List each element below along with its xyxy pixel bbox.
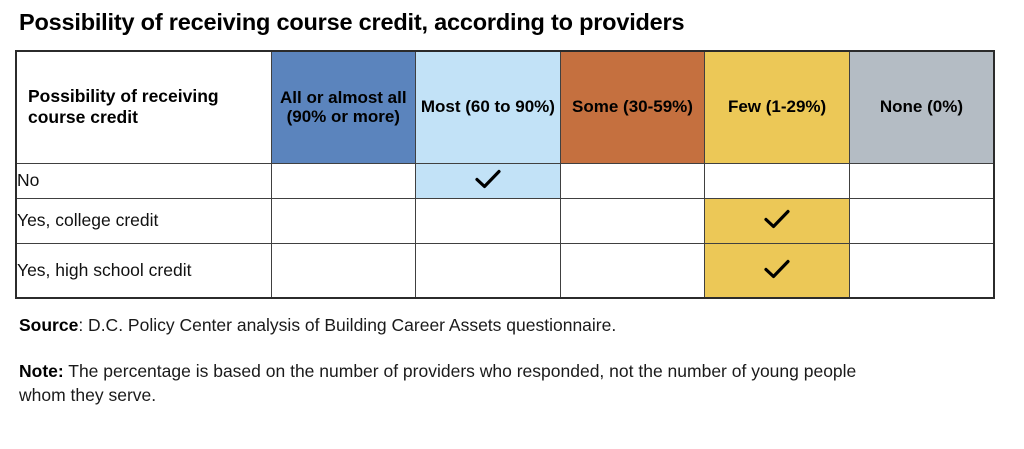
row-label-yes-high-school-credit: Yes, high school credit (16, 243, 271, 298)
cell-highschool-some (560, 243, 705, 298)
cell-college-some (560, 198, 705, 243)
column-header-none: None (0%) (849, 51, 994, 163)
checkmark-icon (764, 259, 790, 279)
header-row: Possibility of receiving course credit A… (16, 51, 994, 163)
checkmark-icon (475, 169, 501, 189)
cell-college-most (416, 198, 561, 243)
cell-college-all-or-almost-all (271, 198, 416, 243)
cell-highschool-most (416, 243, 561, 298)
cell-college-none (849, 198, 994, 243)
column-header-some: Some (30-59%) (560, 51, 705, 163)
cell-no-some (560, 163, 705, 198)
credit-table-container: Possibility of receiving course credit A… (15, 50, 993, 299)
cell-college-few (705, 198, 850, 243)
note-label: Note: (19, 361, 64, 381)
column-header-all-or-almost-all: All or almost all (90% or more) (271, 51, 416, 163)
table-row: No (16, 163, 994, 198)
row-label-yes-college-credit: Yes, college credit (16, 198, 271, 243)
table-header: Possibility of receiving course credit A… (16, 51, 994, 163)
table-row: Yes, high school credit (16, 243, 994, 298)
column-header-few: Few (1-29%) (705, 51, 850, 163)
table-row: Yes, college credit (16, 198, 994, 243)
column-header-most: Most (60 to 90%) (416, 51, 561, 163)
cell-no-most (416, 163, 561, 198)
methodology-note: Note: The percentage is based on the num… (19, 360, 899, 407)
source-text: : D.C. Policy Center analysis of Buildin… (78, 315, 616, 335)
infographic-table-page: Possibility of receiving course credit, … (0, 0, 1024, 449)
source-note: Source: D.C. Policy Center analysis of B… (19, 314, 979, 338)
checkmark-icon (764, 209, 790, 229)
row-label-no: No (16, 163, 271, 198)
source-label: Source (19, 315, 78, 335)
table-body: No Yes, college credit Yes, high s (16, 163, 994, 298)
cell-no-few (705, 163, 850, 198)
page-title: Possibility of receiving course credit, … (19, 9, 684, 36)
cell-highschool-none (849, 243, 994, 298)
corner-header: Possibility of receiving course credit (16, 51, 271, 163)
cell-highschool-all-or-almost-all (271, 243, 416, 298)
cell-highschool-few (705, 243, 850, 298)
note-text: The percentage is based on the number of… (19, 361, 856, 405)
credit-table: Possibility of receiving course credit A… (15, 50, 995, 299)
cell-no-all-or-almost-all (271, 163, 416, 198)
cell-no-none (849, 163, 994, 198)
